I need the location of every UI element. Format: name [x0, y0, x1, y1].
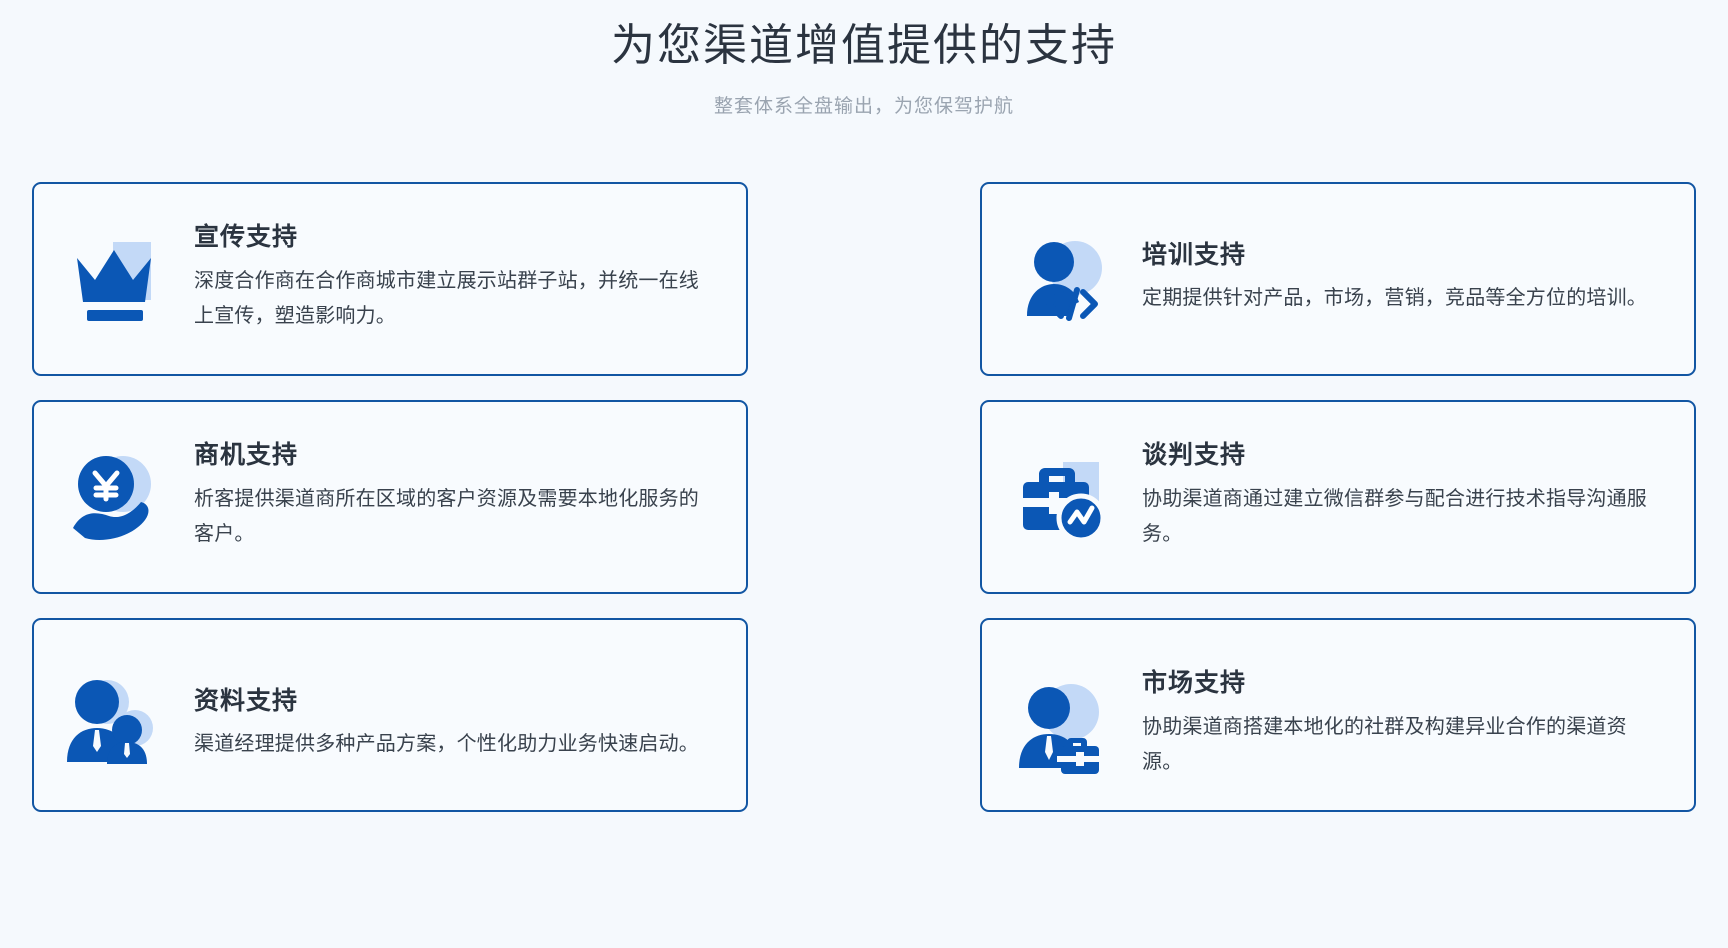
card-description: 协助渠道商搭建本地化的社群及构建异业合作的渠道资源。 — [1142, 710, 1662, 780]
two-people-icon — [56, 667, 176, 787]
section-header: 为您渠道增值提供的支持 整套体系全盘输出，为您保驾护航 — [0, 0, 1728, 118]
support-cards-grid: 宣传支持 深度合作商在合作商城市建立展示站群子站，并统一在线上宣传，塑造影响力。… — [32, 182, 1696, 812]
card-title: 培训支持 — [1142, 242, 1662, 270]
support-card-marketing[interactable]: 市场支持 协助渠道商搭建本地化的社群及构建异业合作的渠道资源。 — [980, 618, 1696, 812]
card-body: 商机支持 析客提供渠道商所在区域的客户资源及需要本地化服务的客户。 — [176, 442, 720, 552]
card-body: 市场支持 协助渠道商搭建本地化的社群及构建异业合作的渠道资源。 — [1124, 650, 1668, 780]
card-title: 商机支持 — [194, 442, 714, 470]
card-body: 培训支持 定期提供针对产品，市场，营销，竞品等全方位的培训。 — [1124, 242, 1668, 317]
support-card-publicity[interactable]: 宣传支持 深度合作商在合作商城市建立展示站群子站，并统一在线上宣传，塑造影响力。 — [32, 182, 748, 376]
card-description: 协助渠道商通过建立微信群参与配合进行技术指导沟通服务。 — [1142, 482, 1662, 552]
card-description: 深度合作商在合作商城市建立展示站群子站，并统一在线上宣传，塑造影响力。 — [194, 264, 714, 334]
briefcase-chart-icon — [1004, 437, 1124, 557]
card-body: 宣传支持 深度合作商在合作商城市建立展示站群子站，并统一在线上宣传，塑造影响力。 — [176, 224, 720, 334]
crown-icon — [56, 219, 176, 339]
support-section-page: 为您渠道增值提供的支持 整套体系全盘输出，为您保驾护航 宣传支持 深度合作商在合… — [0, 0, 1728, 948]
card-body: 资料支持 渠道经理提供多种产品方案，个性化助力业务快速启动。 — [176, 668, 720, 763]
card-description: 定期提供针对产品，市场，营销，竞品等全方位的培训。 — [1142, 281, 1662, 316]
card-description: 析客提供渠道商所在区域的客户资源及需要本地化服务的客户。 — [194, 482, 714, 552]
support-card-training[interactable]: 培训支持 定期提供针对产品，市场，营销，竞品等全方位的培训。 — [980, 182, 1696, 376]
person-briefcase-icon — [1004, 667, 1124, 787]
person-code-icon — [1004, 219, 1124, 339]
card-title: 宣传支持 — [194, 224, 714, 252]
card-title: 市场支持 — [1142, 670, 1662, 698]
card-description: 渠道经理提供多种产品方案，个性化助力业务快速启动。 — [194, 727, 714, 762]
card-body: 谈判支持 协助渠道商通过建立微信群参与配合进行技术指导沟通服务。 — [1124, 442, 1668, 552]
support-card-business-opportunity[interactable]: 商机支持 析客提供渠道商所在区域的客户资源及需要本地化服务的客户。 — [32, 400, 748, 594]
card-title: 谈判支持 — [1142, 442, 1662, 470]
hand-yuan-coin-icon — [56, 437, 176, 557]
support-card-negotiation[interactable]: 谈判支持 协助渠道商通过建立微信群参与配合进行技术指导沟通服务。 — [980, 400, 1696, 594]
page-subtitle: 整套体系全盘输出，为您保驾护航 — [0, 91, 1728, 118]
card-title: 资料支持 — [194, 688, 714, 716]
support-card-materials[interactable]: 资料支持 渠道经理提供多种产品方案，个性化助力业务快速启动。 — [32, 618, 748, 812]
page-title: 为您渠道增值提供的支持 — [0, 18, 1728, 73]
